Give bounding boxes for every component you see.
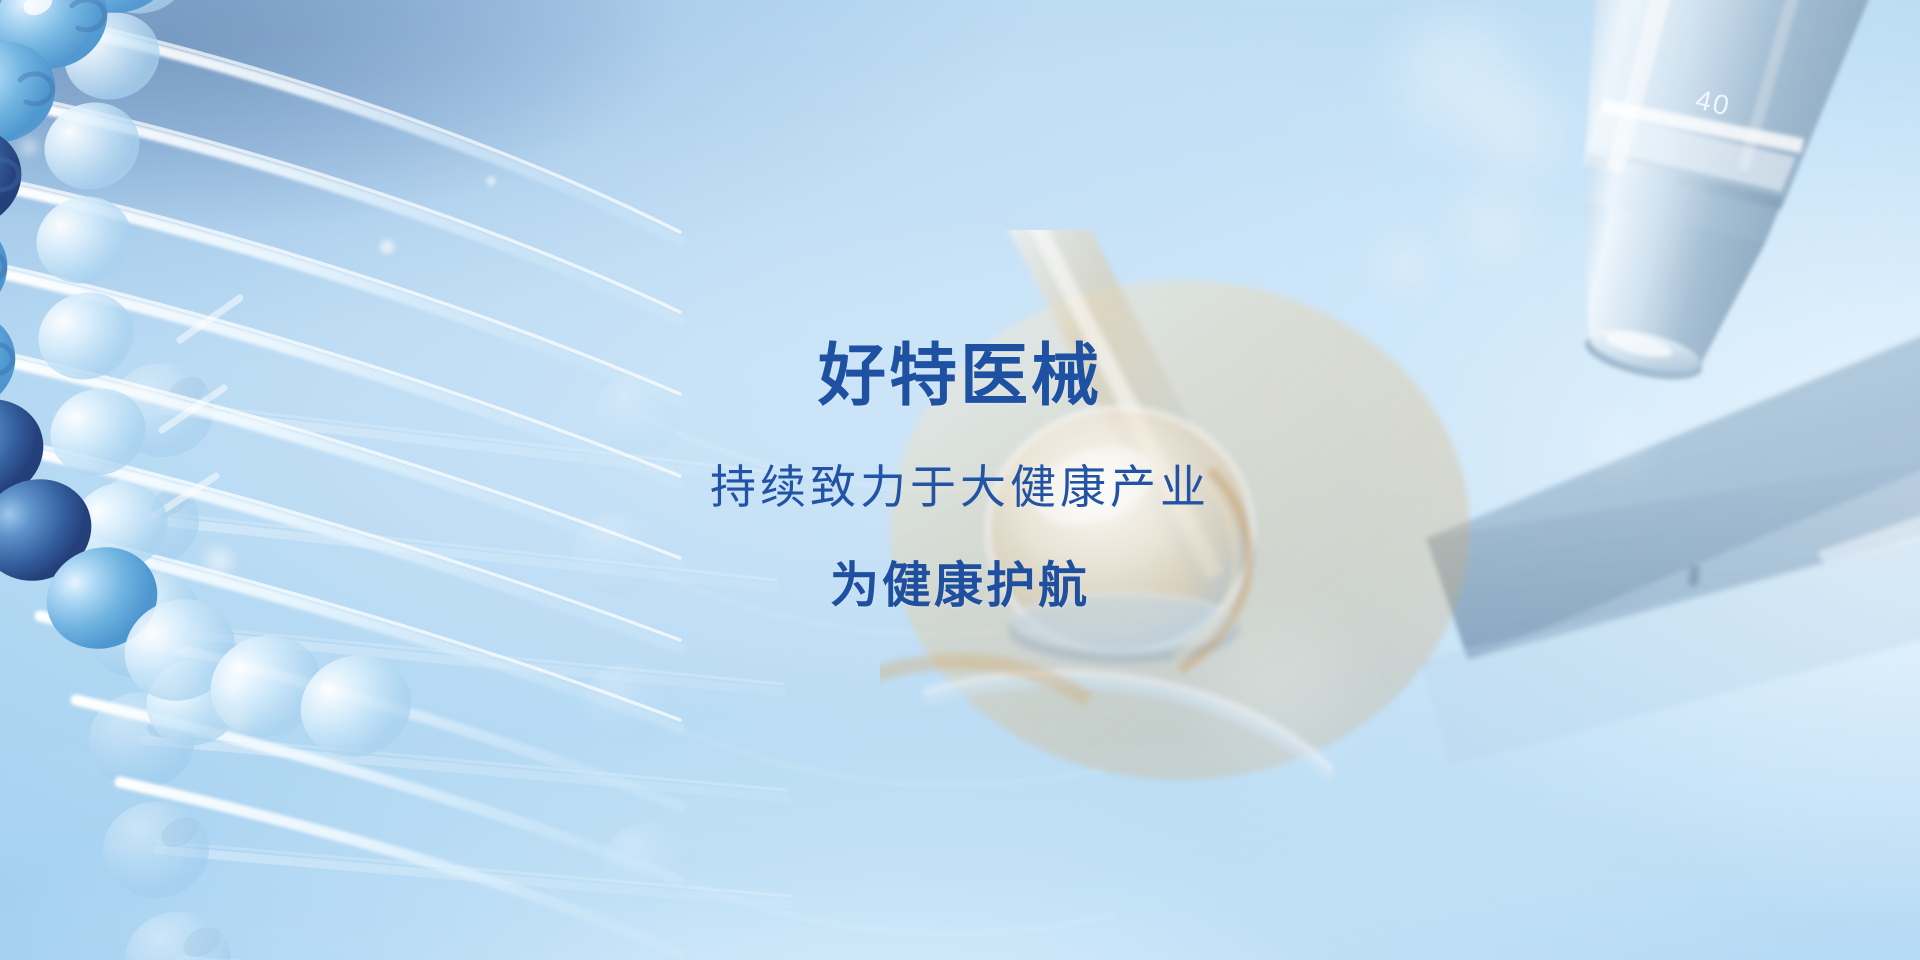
hero-banner: 40 [0, 0, 1920, 960]
overlay-film [0, 0, 1920, 960]
